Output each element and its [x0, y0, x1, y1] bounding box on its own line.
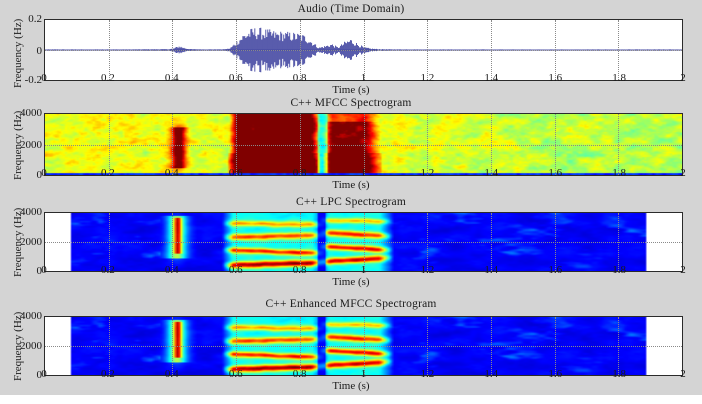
xlabel-lpc: Time (s) [0, 276, 702, 288]
ytick-audio-0: 0.2 [16, 13, 42, 25]
ytick-mfcc-0: 4000 [8, 107, 42, 119]
ytick-lpc-0: 4000 [8, 206, 42, 218]
xtick-label: 0.4 [165, 264, 179, 276]
xtick-label: 0.2 [101, 264, 115, 276]
xtick-label: 0.8 [293, 264, 307, 276]
panel-title-lpc: C++ LPC Spectrogram [0, 196, 702, 208]
ytick-lpc-1: 2000 [8, 236, 42, 248]
xtick-label: 0.4 [165, 167, 179, 179]
xtick-label: 0.8 [293, 167, 307, 179]
xtick-label: 0 [41, 72, 47, 84]
xtick-label: 1.8 [612, 264, 626, 276]
xtick-label: 0 [41, 368, 47, 380]
panel-title-mfcc: C++ MFCC Spectrogram [0, 97, 702, 109]
ytick-enhanced-1: 2000 [8, 340, 42, 352]
xtick-label: 0.2 [101, 368, 115, 380]
xtick-label: 1.2 [421, 72, 435, 84]
xtick-label: 0.4 [165, 368, 179, 380]
xtick-label: 1.6 [548, 264, 562, 276]
gridline-horizontal [45, 242, 682, 243]
ytick-enhanced-0: 4000 [8, 310, 42, 322]
xtick-label: 1.2 [421, 368, 435, 380]
xtick-label: 1.2 [421, 167, 435, 179]
xtick-label: 0.4 [165, 72, 179, 84]
xtick-label: 0.6 [229, 167, 243, 179]
figure-root: Audio (Time Domain) Frequency (Hz) 0.2 0… [0, 0, 702, 404]
xtick-label: 2 [680, 368, 686, 380]
xtick-label: 0.8 [293, 72, 307, 84]
xtick-label: 2 [680, 264, 686, 276]
plot-area-enhanced [44, 316, 683, 376]
gridline-horizontal [45, 50, 682, 51]
xtick-label: 1.4 [484, 264, 498, 276]
xlabel-enhanced: Time (s) [0, 380, 702, 392]
ytick-audio-1: 0 [16, 45, 42, 57]
xtick-label: 1.6 [548, 368, 562, 380]
gridline-horizontal [45, 145, 682, 146]
xtick-label: 1.8 [612, 167, 626, 179]
xtick-label: 0.8 [293, 368, 307, 380]
xtick-label: 1.4 [484, 167, 498, 179]
xtick-label: 1.6 [548, 72, 562, 84]
xtick-label: 1 [361, 264, 367, 276]
panel-title-enhanced: C++ Enhanced MFCC Spectrogram [0, 298, 702, 310]
xtick-label: 1.4 [484, 368, 498, 380]
xtick-label: 1 [361, 368, 367, 380]
xtick-label: 0 [41, 264, 47, 276]
xtick-label: 1.2 [421, 264, 435, 276]
xtick-label: 0.2 [101, 167, 115, 179]
xtick-label: 1 [361, 167, 367, 179]
xtick-label: 1.6 [548, 167, 562, 179]
xtick-label: 2 [680, 72, 686, 84]
ytick-mfcc-1: 2000 [8, 139, 42, 151]
xtick-label: 0.2 [101, 72, 115, 84]
xtick-label: 1.8 [612, 368, 626, 380]
xtick-label: 0.6 [229, 368, 243, 380]
panel-title-audio: Audio (Time Domain) [0, 3, 702, 15]
xtick-label: 1.4 [484, 72, 498, 84]
xtick-label: 1.8 [612, 72, 626, 84]
xlabel-audio: Time (s) [0, 84, 702, 96]
plot-area-lpc [44, 212, 683, 272]
xlabel-mfcc: Time (s) [0, 179, 702, 191]
xtick-label: 1 [361, 72, 367, 84]
xtick-label: 0 [41, 167, 47, 179]
xtick-label: 0.6 [229, 72, 243, 84]
gridline-horizontal [45, 346, 682, 347]
xtick-label: 0.6 [229, 264, 243, 276]
xtick-label: 2 [680, 167, 686, 179]
